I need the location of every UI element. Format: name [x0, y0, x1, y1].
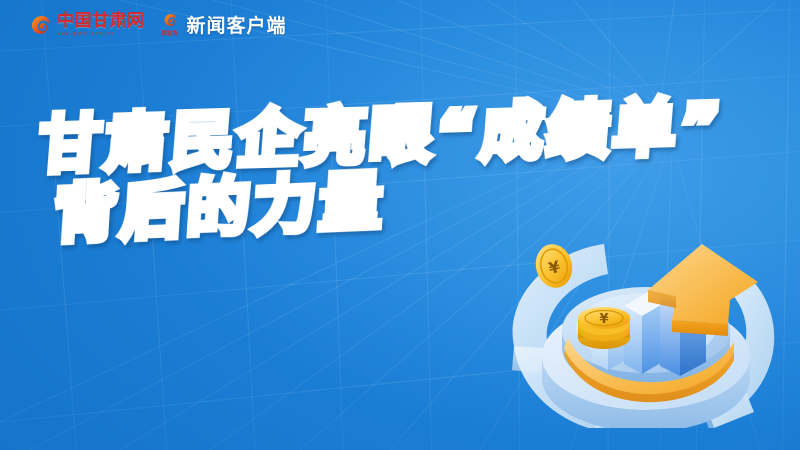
svg-text:¥: ¥ [599, 312, 608, 327]
app-mini-logo-tag: 西北角 [161, 29, 178, 37]
app-mini-logo: 西北角 [159, 12, 181, 38]
site-name: 中国甘肃网 [57, 13, 145, 30]
poster-canvas: 中国甘肃网 www.gscn.com.cn 西北角 [0, 0, 800, 450]
brand-logo-bar: 中国甘肃网 www.gscn.com.cn 西北角 [28, 11, 287, 38]
site-logo[interactable]: 中国甘肃网 www.gscn.com.cn [28, 13, 145, 37]
headline-block: 甘肃民企亮眼“成绩单” 背后的力量 [40, 104, 724, 232]
site-url: www.gscn.com.cn [57, 32, 114, 37]
app-logo[interactable]: 西北角 新闻客户端 [159, 11, 287, 38]
coin-stack: ¥ [578, 307, 630, 349]
app-name: 新闻客户端 [187, 11, 287, 38]
flame-swoosh-icon [28, 13, 52, 37]
